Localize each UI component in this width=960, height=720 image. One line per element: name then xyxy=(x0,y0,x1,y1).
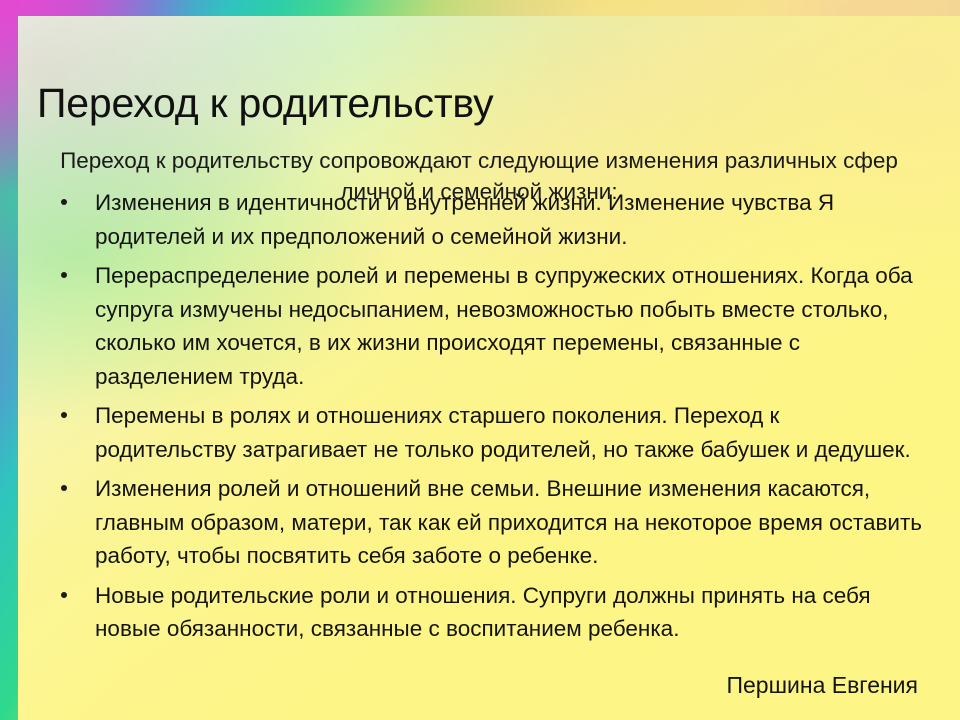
list-item-text: Перемены в ролях и отношениях старшего п… xyxy=(95,403,911,462)
list-item-text: Новые родительские роли и отношения. Суп… xyxy=(95,583,871,642)
bullet-dot-icon xyxy=(61,592,67,598)
bullet-dot-icon xyxy=(61,199,67,205)
list-item-text: Перераспределение ролей и перемены в суп… xyxy=(95,263,913,389)
bullet-list: Изменения в идентичности и внутренней жи… xyxy=(42,186,922,652)
list-item: Новые родительские роли и отношения. Суп… xyxy=(42,579,922,646)
list-item-text: Изменения в идентичности и внутренней жи… xyxy=(95,190,834,249)
slide-content: Переход к родительству Переход к родител… xyxy=(0,0,960,720)
list-item: Изменения в идентичности и внутренней жи… xyxy=(42,186,922,253)
bullet-dot-icon xyxy=(61,272,67,278)
list-item: Перемены в ролях и отношениях старшего п… xyxy=(42,399,922,466)
bullet-dot-icon xyxy=(61,412,67,418)
presentation-slide: Переход к родительству Переход к родител… xyxy=(0,0,960,720)
page-title: Переход к родительству xyxy=(37,79,917,127)
bullet-dot-icon xyxy=(61,485,67,491)
author-credit: Першина Евгения xyxy=(726,670,918,700)
list-item: Изменения ролей и отношений вне семьи. В… xyxy=(42,472,922,573)
list-item: Перераспределение ролей и перемены в суп… xyxy=(42,259,922,393)
list-item-text: Изменения ролей и отношений вне семьи. В… xyxy=(95,476,922,568)
